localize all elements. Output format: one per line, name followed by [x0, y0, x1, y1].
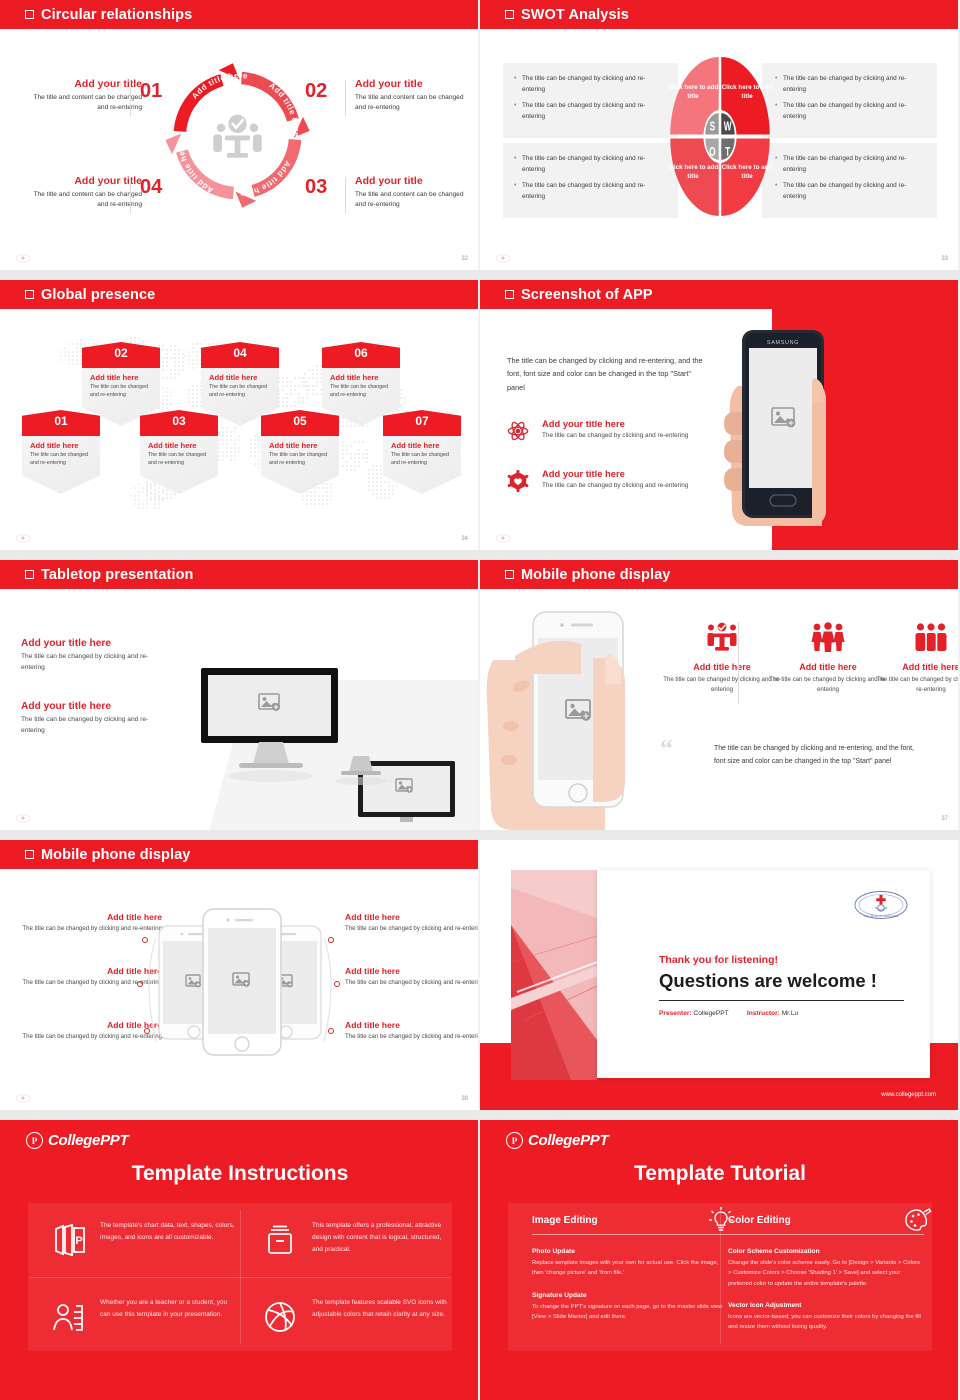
hex-body-text: The title can be changed and re-entering: [90, 383, 152, 399]
slide-screenshot-of-app[interactable]: Screenshot of APP The title can be chang…: [480, 280, 960, 550]
feature-title: Add title here: [876, 662, 960, 672]
block-body: The title can be changed by clicking and…: [21, 715, 171, 737]
right-item-1: Add title here The title can be changed …: [345, 912, 480, 934]
feature-column-2: Add title here The title can be changed …: [769, 622, 887, 695]
slide-mobile-phone-display-a[interactable]: Mobile phone display: [480, 560, 960, 830]
grid-gap: [0, 550, 960, 560]
footer-watermark-logo: [14, 533, 32, 544]
swot-panel-opportunities: The title can be changed by clicking and…: [503, 143, 678, 218]
hex-title: Add title here: [30, 441, 79, 450]
footer-watermark-logo: [494, 533, 512, 544]
palette-icon: [902, 1205, 932, 1235]
presenter-label: Presenter:: [659, 1010, 692, 1017]
slide-global-presence[interactable]: Global presence 01 Add title here The ti…: [0, 280, 480, 550]
connector-dot: [334, 981, 340, 987]
item-04-text: Add your title The title and content can…: [22, 175, 142, 210]
item-body: The title and content can be changed and…: [355, 93, 475, 113]
grid-gap: [0, 830, 960, 840]
instruction-text: The template's chart data, text, shapes,…: [100, 1220, 236, 1244]
page-title: Global presence: [41, 287, 155, 303]
right-item-2: Add title here The title can be changed …: [345, 966, 480, 988]
hex-card-07[interactable]: 07 Add title here The title can be chang…: [383, 410, 461, 494]
brand-name: CollegePPT: [48, 1132, 128, 1149]
section-subhead: Signature Update: [532, 1292, 728, 1299]
slide-mobile-phone-display-b[interactable]: Mobile phone display Add title here The …: [0, 840, 480, 1110]
slide-header: Mobile phone display: [480, 560, 958, 589]
hex-body-text: The title can be changed and re-entering: [30, 451, 92, 467]
swot-quadrant-label-t[interactable]: Click here to add title: [719, 163, 775, 181]
text-block-1: Add your title here The title can be cha…: [21, 638, 171, 674]
device-brand-label: SAMSUNG: [767, 340, 799, 346]
hex-body-text: The title can be changed and re-entering: [391, 451, 453, 467]
lead-paragraph: The title can be changed by clicking and…: [507, 354, 707, 394]
section-text: Icons are vector-based; you can customiz…: [728, 1312, 924, 1333]
heading-rule: [728, 1234, 924, 1235]
brand-logo: P CollegePPT: [26, 1132, 128, 1149]
collegeppt-mark-icon: P: [506, 1132, 523, 1149]
bullet: The title can be changed by clicking and…: [774, 181, 927, 203]
item-body: The title and content can be changed and…: [22, 93, 142, 113]
decorative-photo: [511, 870, 597, 1080]
swot-letter-t: T: [725, 145, 730, 159]
hex-number: 07: [383, 414, 461, 428]
footer-watermark-logo: [494, 253, 512, 264]
swot-panel-strengths: The title can be changed by clicking and…: [503, 63, 678, 138]
swot-panel-threats: The title can be changed by clicking and…: [762, 143, 937, 218]
tutorial-column-color-editing: Color Editing Color Scheme Customization…: [728, 1215, 924, 1333]
footer-watermark-logo: [14, 253, 32, 264]
item-01-text: Add your title The title and content can…: [22, 78, 142, 113]
feature-body: The title can be changed by clicking and…: [663, 675, 781, 695]
swot-panel-weaknesses: The title can be changed by clicking and…: [762, 63, 937, 138]
feature-body: The title can be changed by clicking and…: [542, 481, 720, 491]
presenter-meta: Presenter: CollegePPT Instructor: Mr.Lu: [659, 1010, 798, 1017]
square-bullet-icon: [25, 570, 34, 579]
instruction-text: This template offers a professional, att…: [312, 1220, 448, 1256]
ppt-slides-icon: P: [48, 1220, 88, 1260]
brand-name: CollegePPT: [528, 1132, 608, 1149]
item-title: Add your title: [22, 78, 142, 90]
page-title: Tabletop presentation: [41, 567, 193, 583]
page-number: 32: [461, 256, 468, 262]
item-title: Add title here: [345, 966, 480, 976]
text-block-2: Add your title here The title can be cha…: [21, 701, 171, 737]
team-check-icon: [706, 622, 738, 652]
section-text: Replace template images with your own fo…: [532, 1258, 728, 1279]
item-body: The title can be changed by clicking and…: [345, 1032, 480, 1042]
phone-center: [202, 908, 282, 1056]
block-body: The title can be changed by clicking and…: [21, 652, 171, 674]
monitor-small-stand: [333, 756, 389, 786]
bullet: The title can be changed by clicking and…: [513, 101, 666, 123]
item-title: Add your title: [22, 175, 142, 187]
connector-dot: [328, 937, 334, 943]
monitor-large-stand: [225, 742, 317, 784]
page-title: Template Tutorial: [480, 1162, 960, 1186]
slide-template-tutorial[interactable]: P CollegePPT Template Tutorial Image Edi…: [480, 1120, 960, 1400]
bullet: The title can be changed by clicking and…: [774, 154, 927, 176]
slide-grid: Circular relationships Add your title Th…: [0, 0, 960, 1400]
slide-thank-you[interactable]: COLLEGE OF MEDICINE Thank you for listen…: [480, 840, 960, 1110]
tutorial-column-image-editing: Image Editing Photo Update Replace templ…: [532, 1215, 728, 1322]
item-title: Add title here: [345, 1020, 480, 1030]
item-03-text: Add your title The title and content can…: [355, 175, 475, 210]
brand-logo: P CollegePPT: [506, 1132, 608, 1149]
section-subhead: Color Scheme Customization: [728, 1248, 924, 1255]
feature-column-1: Add title here The title can be changed …: [663, 622, 781, 695]
section-subhead: Photo Update: [532, 1248, 728, 1255]
slide-template-instructions[interactable]: P CollegePPT Template Instructions P The…: [0, 1120, 480, 1400]
slide-header: Tabletop presentation: [0, 560, 478, 589]
slide-header: Mobile phone display: [0, 840, 478, 869]
footer-watermark-logo: [14, 1093, 32, 1104]
feature-title: Add your title here: [542, 468, 720, 479]
monitor-large: [200, 667, 340, 751]
hex-number: 06: [322, 346, 400, 360]
archive-box-icon: [260, 1220, 300, 1260]
item-number-01: 01: [140, 80, 162, 103]
dribbble-ball-icon: [260, 1297, 300, 1337]
feature-body: The title can be changed by clicking and…: [876, 675, 960, 695]
page-number: 37: [941, 816, 948, 822]
page-title: Mobile phone display: [521, 567, 670, 583]
right-item-3: Add title here The title can be changed …: [345, 1020, 480, 1042]
section-text: To change the PPT's signature on each pa…: [532, 1302, 728, 1323]
bullet: The title can be changed by clicking and…: [774, 101, 927, 123]
svg-text:COLLEGE OF MEDICINE: COLLEGE OF MEDICINE: [864, 914, 899, 918]
slide-circular-relationships[interactable]: Circular relationships Add your title Th…: [0, 0, 480, 270]
column-heading: Image Editing: [532, 1215, 728, 1226]
hex-title: Add title here: [391, 441, 440, 450]
item-body: The title can be changed by clicking and…: [345, 978, 480, 988]
item-title: Add your title: [355, 78, 475, 90]
hand-holding-samsung-phone: SAMSUNG: [720, 316, 840, 526]
feature-title: Add title here: [663, 662, 781, 672]
hex-title: Add title here: [90, 373, 139, 382]
slide-header: Circular relationships: [0, 0, 478, 29]
divider: [659, 1000, 904, 1001]
feature-row-1: Add your title here The title can be cha…: [500, 418, 720, 441]
column-heading: Color Editing: [728, 1215, 924, 1226]
item-body: The title can be changed by clicking and…: [345, 924, 480, 934]
instruction-cell-1: P The template's chart data, text, shape…: [48, 1220, 236, 1260]
content-card: COLLEGE OF MEDICINE Thank you for listen…: [597, 870, 930, 1078]
slide-header: Global presence: [0, 280, 478, 309]
swot-quadrant-label-s[interactable]: Click here to add title: [665, 83, 721, 101]
feature-body: The title can be changed by clicking and…: [542, 431, 720, 441]
swot-quadrant-label-w[interactable]: Click here to add title: [719, 83, 775, 101]
quote-open-icon: “: [660, 736, 673, 762]
thanks-line: Thank you for listening!: [659, 954, 778, 966]
feature-body: The title can be changed by clicking and…: [769, 675, 887, 695]
page-title: SWOT Analysis: [521, 7, 629, 23]
hex-number: 02: [82, 346, 160, 360]
swot-letter-w: W: [724, 120, 732, 134]
square-bullet-icon: [505, 570, 514, 579]
divider: [130, 80, 131, 116]
atom-icon: [507, 420, 529, 442]
connector-dot: [328, 1028, 334, 1034]
three-people-icon: [914, 622, 948, 652]
block-title: Add your title here: [21, 701, 171, 712]
square-bullet-icon: [505, 290, 514, 299]
presenter-value: CollegePPT: [693, 1010, 728, 1017]
page-title: Mobile phone display: [41, 847, 190, 863]
bullet: The title can be changed by clicking and…: [513, 74, 666, 96]
page-title: Template Instructions: [0, 1162, 480, 1186]
instructor-value: Mr.Lu: [782, 1010, 799, 1017]
instruction-text: The template features scalable SVG icons…: [312, 1297, 448, 1321]
connector-dot: [144, 1028, 150, 1034]
hex-body-text: The title can be changed and re-entering: [330, 383, 392, 399]
divider: [738, 622, 739, 704]
hex-title: Add title here: [209, 373, 258, 382]
slide-header: Screenshot of APP: [480, 280, 958, 309]
circular-diagram: Add title here Add title here Add title …: [160, 58, 315, 213]
collegeppt-mark-icon: P: [26, 1132, 43, 1149]
square-bullet-icon: [25, 290, 34, 299]
swot-quadrant-label-o[interactable]: Click here to add title: [665, 163, 721, 181]
swot-letter-s: S: [710, 120, 716, 134]
page-number: 34: [461, 536, 468, 542]
quote-text: The title can be changed by clicking and…: [692, 742, 942, 769]
page-number: 33: [941, 256, 948, 262]
item-body: The title and content can be changed and…: [22, 190, 142, 210]
item-number-04: 04: [140, 176, 162, 199]
feature-title: Add your title here: [542, 418, 720, 429]
square-bullet-icon: [25, 850, 34, 859]
item-title: Add your title: [355, 175, 475, 187]
feature-column-3: Add title here The title can be changed …: [876, 622, 960, 695]
block-title: Add your title here: [21, 638, 171, 649]
hex-body-text: The title can be changed and re-entering: [269, 451, 331, 467]
section-text: Change the slide's color scheme easily. …: [728, 1258, 924, 1289]
divider: [345, 80, 346, 116]
divider: [345, 177, 346, 213]
heading-rule: [532, 1234, 728, 1235]
square-bullet-icon: [505, 10, 514, 19]
footer-watermark-logo: [14, 813, 32, 824]
shield-heart-icon: [507, 470, 529, 492]
slide-header: SWOT Analysis: [480, 0, 958, 29]
grid-gap: [0, 1110, 960, 1120]
item-title: Add title here: [345, 912, 480, 922]
page-number: 38: [461, 1096, 468, 1102]
square-bullet-icon: [25, 10, 34, 19]
grid-gap: [0, 270, 960, 280]
bullet: The title can be changed by clicking and…: [774, 74, 927, 96]
hex-number: 04: [201, 346, 279, 360]
item-02-text: Add your title The title and content can…: [355, 78, 475, 113]
page-title: Screenshot of APP: [521, 287, 653, 303]
feature-title: Add title here: [769, 662, 887, 672]
hex-title: Add title here: [269, 441, 318, 450]
hex-title: Add title here: [148, 441, 197, 450]
bullet: The title can be changed by clicking and…: [513, 181, 666, 203]
swot-letter-o: O: [709, 145, 716, 159]
website-url[interactable]: www.collegeppt.com: [881, 1092, 936, 1098]
question-line: Questions are welcome !: [659, 970, 877, 992]
quote-block: “ The title can be changed by clicking a…: [692, 742, 942, 769]
instruction-text: Whether you are a teacher or a student, …: [100, 1297, 236, 1321]
user-card-icon: [48, 1297, 88, 1337]
section-subhead: Vector Icon Adjustment: [728, 1302, 924, 1309]
page-title: Circular relationships: [41, 7, 192, 23]
connector-dot: [142, 937, 148, 943]
divider-horizontal: [30, 1277, 450, 1278]
bullet: The title can be changed by clicking and…: [513, 154, 666, 176]
hex-body-text: The title can be changed and re-entering: [148, 451, 210, 467]
item-body: The title and content can be changed and…: [355, 190, 475, 210]
hand-holding-iphone: [485, 600, 655, 830]
instruction-cell-2: This template offers a professional, att…: [260, 1220, 448, 1260]
divider: [130, 177, 131, 213]
instruction-cell-3: Whether you are a teacher or a student, …: [48, 1297, 236, 1337]
hex-body-text: The title can be changed and re-entering: [209, 383, 271, 399]
instructor-label: Instructor:: [747, 1010, 780, 1017]
institution-logo: COLLEGE OF MEDICINE: [852, 888, 910, 922]
svg-text:P: P: [75, 1235, 82, 1247]
connector-dot: [137, 981, 143, 987]
swot-wheel: S W O T Click here to add title Click he…: [669, 55, 771, 218]
people-group-icon: [811, 622, 845, 652]
hex-title: Add title here: [330, 373, 379, 382]
instruction-cell-4: The template features scalable SVG icons…: [260, 1297, 448, 1337]
slide-tabletop-presentation[interactable]: Tabletop presentation Add your title her…: [0, 560, 480, 830]
slide-swot-analysis[interactable]: SWOT Analysis The title can be changed b…: [480, 0, 960, 270]
feature-row-2: Add your title here The title can be cha…: [500, 468, 720, 491]
